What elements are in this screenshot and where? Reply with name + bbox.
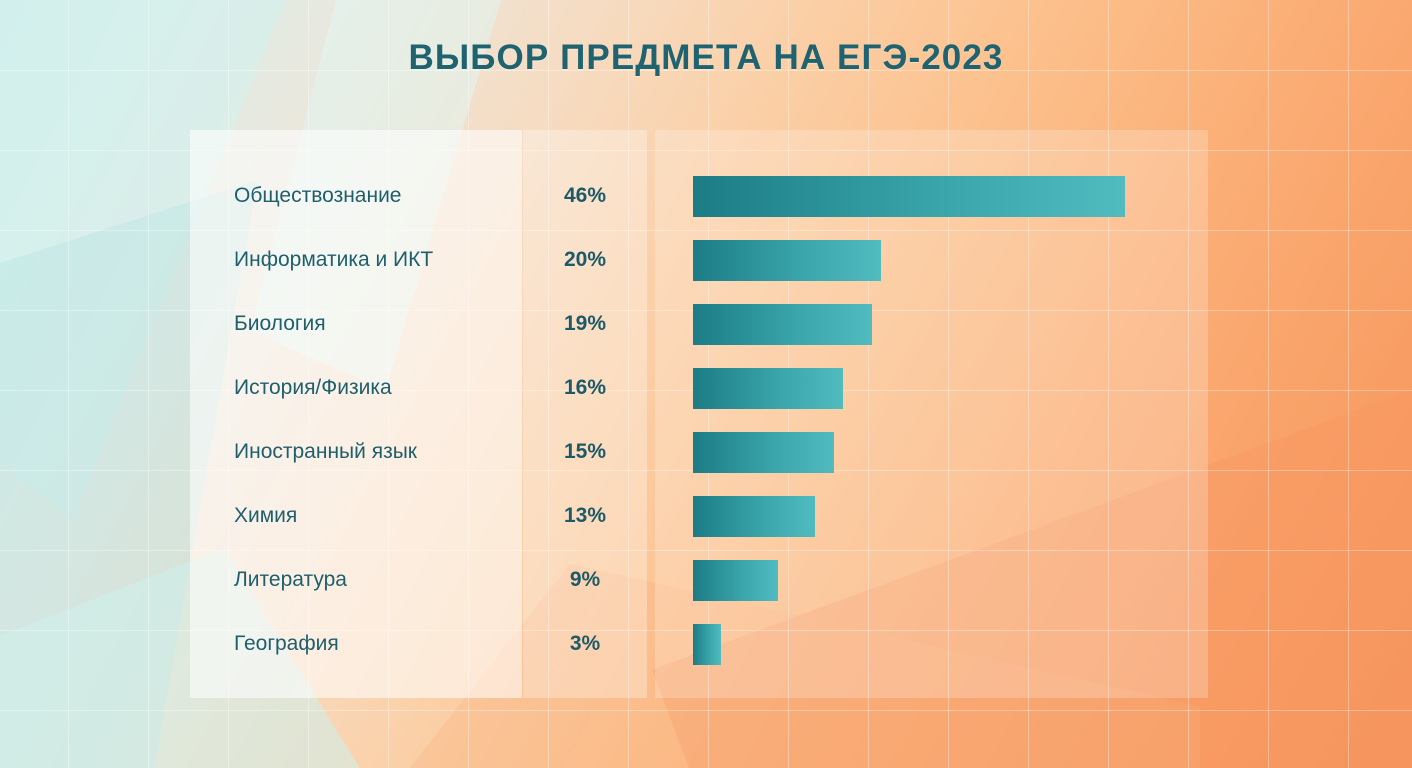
page-title: ВЫБОР ПРЕДМЕТА НА ЕГЭ-2023 — [0, 38, 1412, 78]
value-label: 3% — [523, 632, 647, 656]
value-label: 16% — [523, 376, 647, 400]
category-row: Иностранный язык — [190, 420, 522, 484]
category-label: Химия — [190, 504, 297, 528]
value-row: 20% — [523, 228, 647, 292]
category-row: География — [190, 612, 522, 676]
category-column: ОбществознаниеИнформатика и ИКТБиологияИ… — [190, 130, 522, 698]
category-row: Литература — [190, 548, 522, 612]
category-label: Иностранный язык — [190, 440, 417, 464]
value-row: 13% — [523, 484, 647, 548]
bar-row — [693, 484, 1208, 548]
bar — [693, 240, 881, 281]
value-label: 20% — [523, 248, 647, 272]
value-row: 46% — [523, 164, 647, 228]
category-row: Биология — [190, 292, 522, 356]
category-label: Литература — [190, 568, 347, 592]
chart-panel: ОбществознаниеИнформатика и ИКТБиологияИ… — [190, 130, 1208, 698]
bar-row — [693, 548, 1208, 612]
bar-row — [693, 612, 1208, 676]
category-label: Обществознание — [190, 184, 401, 208]
value-label: 46% — [523, 184, 647, 208]
category-label: Информатика и ИКТ — [190, 248, 433, 272]
bar-row — [693, 356, 1208, 420]
value-row: 19% — [523, 292, 647, 356]
bar — [693, 496, 815, 537]
value-label: 15% — [523, 440, 647, 464]
category-label: География — [190, 632, 339, 656]
bar — [693, 304, 872, 345]
bar — [693, 560, 778, 601]
bar-row — [693, 420, 1208, 484]
poster: ВЫБОР ПРЕДМЕТА НА ЕГЭ-2023 Обществознани… — [0, 0, 1412, 768]
value-row: 3% — [523, 612, 647, 676]
value-column: 46%20%19%16%15%13%9%3% — [523, 130, 647, 698]
value-row: 9% — [523, 548, 647, 612]
bar — [693, 176, 1125, 217]
bar — [693, 368, 843, 409]
category-label: История/Физика — [190, 376, 392, 400]
value-label: 19% — [523, 312, 647, 336]
bar-row — [693, 292, 1208, 356]
value-label: 13% — [523, 504, 647, 528]
category-row: Химия — [190, 484, 522, 548]
category-row: Информатика и ИКТ — [190, 228, 522, 292]
bar — [693, 624, 721, 665]
bar — [693, 432, 834, 473]
bar-row — [693, 164, 1208, 228]
value-label: 9% — [523, 568, 647, 592]
category-row: Обществознание — [190, 164, 522, 228]
value-row: 16% — [523, 356, 647, 420]
category-label: Биология — [190, 312, 326, 336]
category-row: История/Физика — [190, 356, 522, 420]
bars-column — [655, 130, 1208, 698]
value-row: 15% — [523, 420, 647, 484]
bar-row — [693, 228, 1208, 292]
